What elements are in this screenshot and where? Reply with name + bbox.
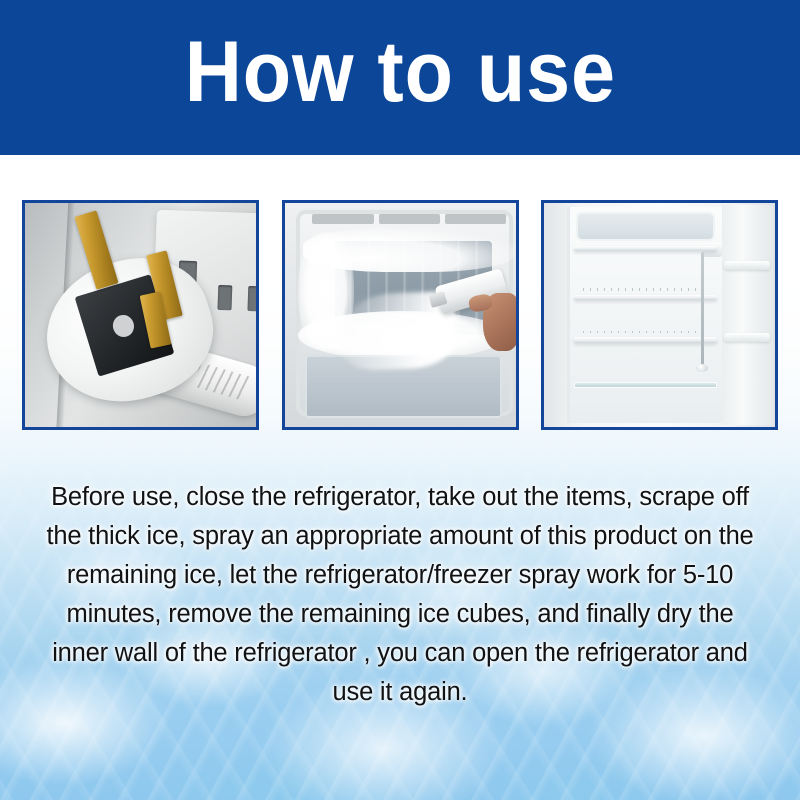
fridge-wire-shelf-grid — [583, 288, 708, 290]
panel-spray-image — [285, 203, 516, 427]
header-banner: How to use — [0, 0, 800, 155]
freezer-vent-row — [312, 214, 506, 224]
panel-unplug-image — [25, 203, 256, 427]
fridge-top-bin — [576, 212, 715, 241]
freezer-vent — [312, 214, 373, 224]
fridge-wire-shelf-grid — [583, 331, 708, 333]
fridge-shelf — [574, 246, 717, 251]
instructions-paragraph: Before use, close the refrigerator, take… — [40, 478, 760, 712]
freezer-vent — [445, 214, 506, 224]
panel-spray-frozen-freezer — [282, 200, 519, 430]
fridge-support-rod — [701, 252, 704, 368]
step-photo-strip — [22, 200, 778, 430]
door-shelf — [724, 261, 770, 270]
panel-unplug-refrigerator — [22, 200, 259, 430]
fridge-shelf — [574, 295, 717, 300]
panel-clean-fridge-image — [544, 203, 775, 427]
socket-slot — [248, 286, 256, 311]
page-title: How to use — [184, 29, 615, 115]
door-shelf — [724, 333, 770, 342]
fridge-glass-shelf — [574, 382, 717, 388]
freezer-vent — [379, 214, 440, 224]
socket-slot — [218, 285, 232, 310]
panel-clean-refrigerator-interior — [541, 200, 778, 430]
fridge-shelf — [574, 337, 717, 342]
fridge-door — [722, 205, 773, 425]
how-to-use-infographic: How to use — [0, 0, 800, 800]
